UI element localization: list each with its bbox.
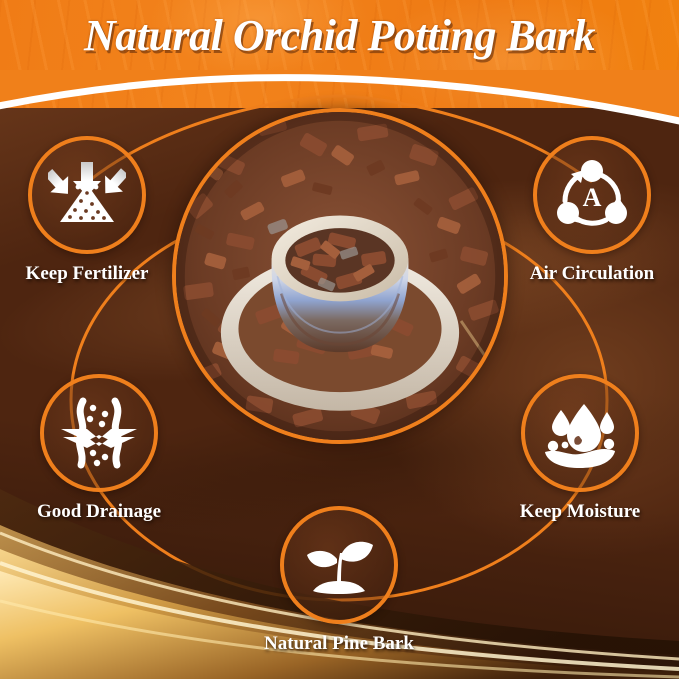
feature-label: Air Circulation [517,263,667,285]
feature-icon-bubble[interactable] [280,506,398,624]
feature-label: Good Drainage [24,501,174,523]
feature-natural-pine-bark[interactable]: Natural Pine Bark [264,506,414,655]
feature-good-drainage[interactable]: Good Drainage [24,374,174,523]
feature-icon-bubble[interactable] [521,374,639,492]
water-droplet-basin-icon [539,396,621,470]
feature-keep-fertilizer[interactable]: Keep Fertilizer [12,136,162,285]
feature-label: Natural Pine Bark [264,633,414,655]
feature-label: Keep Moisture [505,501,655,523]
feature-icon-bubble[interactable] [28,136,146,254]
feature-icon-bubble[interactable]: A [533,136,651,254]
feature-icon-bubble[interactable] [40,374,158,492]
fertilizer-arrows-mound-icon [48,160,126,230]
svg-text:A: A [583,183,602,212]
feature-label: Keep Fertilizer [12,263,162,285]
feature-keep-moisture[interactable]: Keep Moisture [505,374,655,523]
product-feature-poster: Natural Orchid Potting Bark [0,0,679,679]
drainage-filter-droplets-icon [57,395,141,471]
feature-air-circulation[interactable]: A Air Circulation [517,136,667,285]
air-circulation-a-icon: A [554,157,630,233]
page-title: Natural Orchid Potting Bark [0,10,679,61]
sprout-seedling-icon [299,529,379,601]
